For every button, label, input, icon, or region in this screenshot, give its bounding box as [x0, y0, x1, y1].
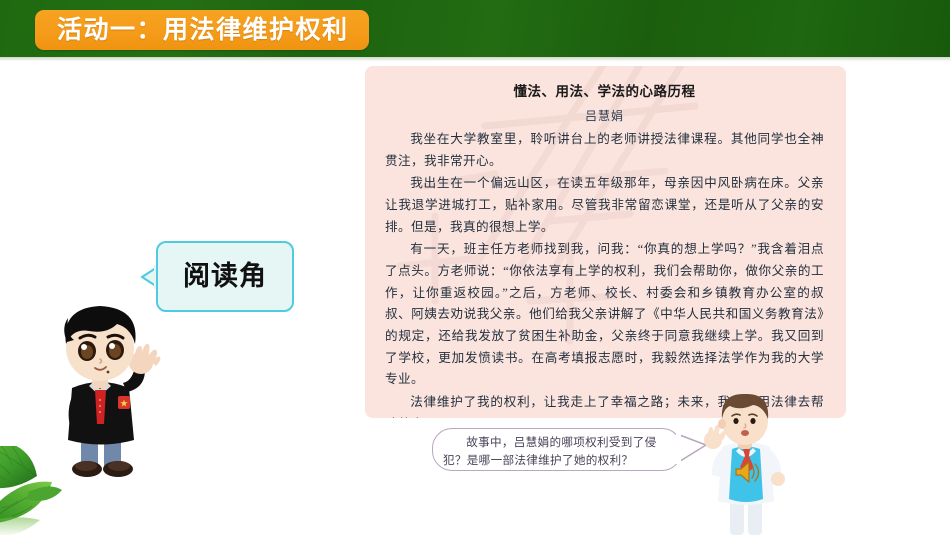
boy-right-eye — [750, 418, 755, 424]
green-leaves-decoration — [0, 446, 142, 535]
reading-corner-label: 阅读角 — [183, 263, 267, 290]
document-paragraph: 有一天，班主任方老师找到我，问我：“你真的想上学吗？”我含着泪点了点头。方老师说… — [385, 239, 824, 391]
boy-right-hand-hip — [771, 472, 785, 486]
document-paragraph: 我坐在大学教室里，聆听讲台上的老师讲授法律课程。其他同学也全神贯注，我非常开心。 — [385, 129, 824, 172]
activity-title-pill: 活动一：用法律维护权利 — [35, 10, 369, 50]
svg-text:★: ★ — [120, 399, 128, 408]
slide-canvas: 活动一：用法律维护权利 阅读角 懂法、用法、学法 — [0, 0, 950, 535]
page-title: 活动一：用法律维护权利 — [57, 18, 349, 43]
boy-right-eye — [733, 418, 738, 424]
leaf-reflection — [0, 517, 40, 535]
document-content: 懂法、用法、学法的心路历程 吕慧娟 我坐在大学教室里，聆听讲台上的老师讲授法律课… — [365, 66, 846, 418]
reading-corner-callout: 阅读角 — [156, 241, 294, 312]
header-underline-divider — [0, 57, 950, 61]
question-speech-bubble: 故事中，吕慧娟的哪项权利受到了侵犯？是哪一部法律维护了她的权利？ — [432, 428, 682, 471]
document-title: 懂法、用法、学法的心路历程 — [385, 80, 824, 100]
document-author: 吕慧娟 — [385, 107, 824, 124]
cartoon-boy-speaking — [700, 393, 792, 535]
document-paragraph: 我出生在一个偏远山区，在读五年级那年，母亲因中风卧病在床。父亲让我退学进城打工，… — [385, 173, 824, 238]
reading-document-panel: 懂法、用法、学法的心路历程 吕慧娟 我坐在大学教室里，聆听讲台上的老师讲授法律课… — [365, 66, 846, 418]
question-text: 故事中，吕慧娟的哪项权利受到了侵犯？是哪一部法律维护了她的权利？ — [443, 434, 671, 470]
boy-right-mouth — [741, 430, 749, 436]
